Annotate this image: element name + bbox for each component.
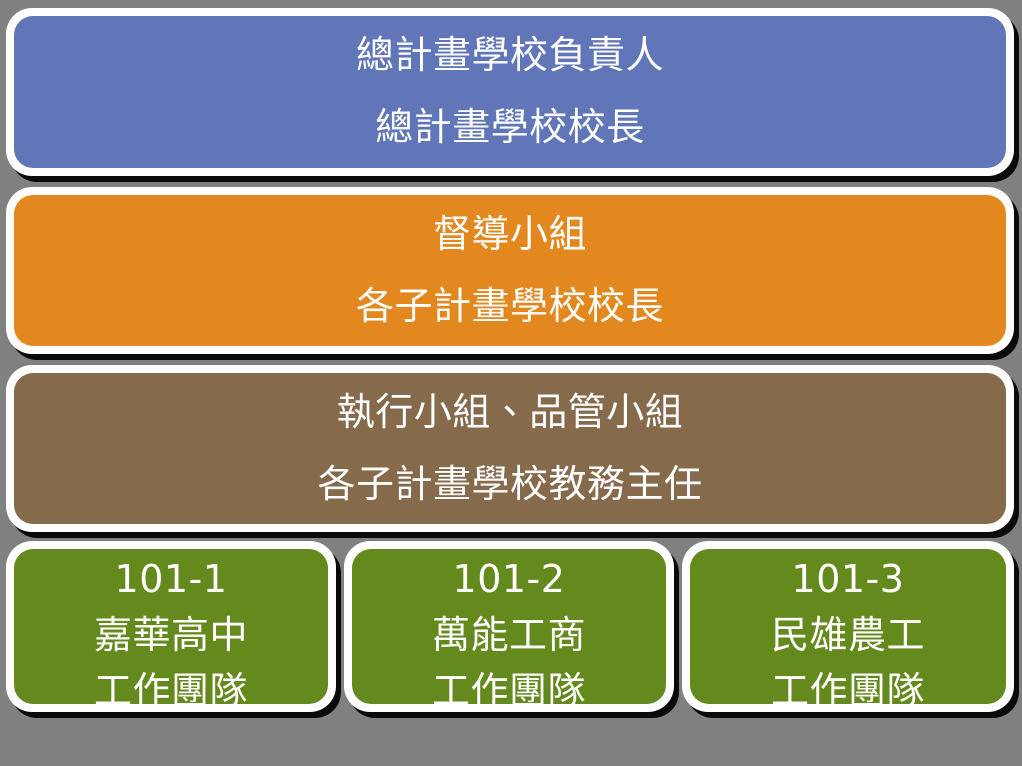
org-node-team-101-2-fill: 101-2 萬能工商 工作團隊 bbox=[352, 549, 666, 704]
org-node-team-101-1-unit: 工作團隊 bbox=[14, 672, 328, 704]
org-node-lead-line-2: 總計畫學校校長 bbox=[14, 108, 1006, 148]
org-node-team-101-3-unit: 工作團隊 bbox=[690, 672, 1006, 704]
org-node-team-101-1-school: 嘉華高中 bbox=[14, 616, 328, 656]
org-node-supervision-line-1: 督導小組 bbox=[14, 215, 1006, 255]
org-node-team-101-1-fill: 101-1 嘉華高中 工作團隊 bbox=[14, 549, 328, 704]
org-node-team-101-1-code: 101-1 bbox=[14, 560, 328, 600]
org-node-team-101-2-school: 萬能工商 bbox=[352, 616, 666, 656]
org-node-lead-line-1: 總計畫學校負責人 bbox=[14, 36, 1006, 76]
org-node-lead[interactable]: 總計畫學校負責人 總計畫學校校長 bbox=[6, 8, 1014, 176]
org-node-team-101-2-code: 101-2 bbox=[352, 560, 666, 600]
org-node-supervision-line-2: 各子計畫學校校長 bbox=[14, 287, 1006, 327]
org-node-team-101-3-code: 101-3 bbox=[690, 560, 1006, 600]
org-node-execution-line-1: 執行小組、品管小組 bbox=[14, 393, 1006, 433]
org-node-team-101-3[interactable]: 101-3 民雄農工 工作團隊 bbox=[682, 541, 1014, 712]
org-node-team-101-1[interactable]: 101-1 嘉華高中 工作團隊 bbox=[6, 541, 336, 712]
org-node-execution[interactable]: 執行小組、品管小組 各子計畫學校教務主任 bbox=[6, 365, 1014, 532]
org-node-supervision-fill: 督導小組 各子計畫學校校長 bbox=[14, 195, 1006, 346]
org-node-team-101-3-fill: 101-3 民雄農工 工作團隊 bbox=[690, 549, 1006, 704]
org-node-lead-fill: 總計畫學校負責人 總計畫學校校長 bbox=[14, 16, 1006, 168]
org-node-supervision[interactable]: 督導小組 各子計畫學校校長 bbox=[6, 187, 1014, 354]
org-node-execution-line-2: 各子計畫學校教務主任 bbox=[14, 465, 1006, 505]
org-node-team-101-3-school: 民雄農工 bbox=[690, 616, 1006, 656]
org-node-team-101-2[interactable]: 101-2 萬能工商 工作團隊 bbox=[344, 541, 674, 712]
org-node-team-101-2-unit: 工作團隊 bbox=[352, 672, 666, 704]
org-chart-canvas: 總計畫學校負責人 總計畫學校校長 督導小組 各子計畫學校校長 執行小組、品管小組… bbox=[0, 0, 1022, 766]
org-node-execution-fill: 執行小組、品管小組 各子計畫學校教務主任 bbox=[14, 373, 1006, 524]
